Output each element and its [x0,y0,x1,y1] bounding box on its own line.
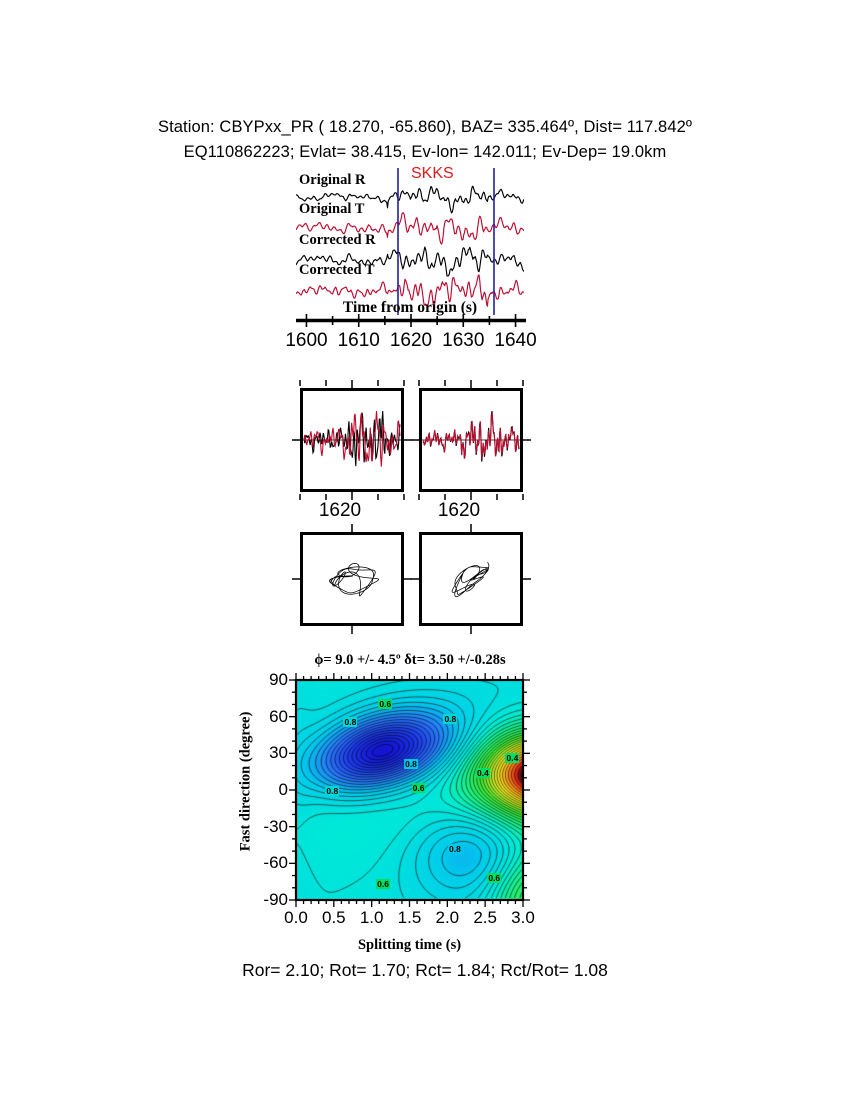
trace-label-corrected-r: Corrected R [299,232,376,249]
contour-plot-title: ϕ= 9.0 +/- 4.5º δt= 3.50 +/-0.28s [250,652,570,669]
time-axis-title: Time from origin (s) [296,299,524,317]
trace-label-corrected-t: Corrected T [299,262,375,279]
residual-summary-line: Ror= 2.10; Rot= 1.70; Rct= 1.84; Rct/Rot… [0,960,850,981]
contour-xtick-2.0: 2.0 [436,908,460,928]
station-info-line: Station: CBYPxx_PR ( 18.270, -65.860), B… [0,118,850,137]
time-tick-1640: 1640 [494,330,536,352]
time-tick-1600: 1600 [285,330,327,352]
contour-xlabel: Splitting time (s) [296,937,523,954]
zoom-panel-left [300,388,404,492]
contour-ytick-0: 0 [244,780,288,800]
event-info-line: EQ110862223; Evlat= 38.415, Ev-lon= 142.… [0,143,850,162]
zoom-panel-right [419,388,523,492]
time-tick-1630: 1630 [442,330,484,352]
skks-phase-label: SKKS [411,165,454,183]
zoom-panel-left-label: 1620 [319,500,361,522]
time-tick-1620: 1620 [390,330,432,352]
trace-label-original-t: Original T [299,201,364,218]
contour-axis-ticks [288,670,534,912]
contour-xtick-0.0: 0.0 [284,908,308,928]
contour-ytick-60: 60 [244,707,288,727]
contour-xtick-3.0: 3.0 [511,908,535,928]
time-tick-1610: 1610 [338,330,380,352]
zoom-panel-right-label: 1620 [438,500,480,522]
contour-ytick--90: -90 [244,890,288,910]
contour-xtick-0.5: 0.5 [322,908,346,928]
contour-xtick-1.5: 1.5 [398,908,422,928]
particle-motion-panel-left [300,532,404,626]
contour-ytick-30: 30 [244,743,288,763]
particle-motion-panel-right [419,532,523,626]
contour-ytick-90: 90 [244,670,288,690]
contour-xticklabels: 0.00.51.01.52.02.53.0 [296,908,523,932]
contour-ytick--30: -30 [244,817,288,837]
contour-xtick-1.0: 1.0 [360,908,384,928]
contour-yticklabels: 9060300-30-60-90 [240,680,288,900]
trace-label-original-r: Original R [299,172,365,189]
contour-xtick-2.5: 2.5 [473,908,497,928]
contour-ytick--60: -60 [244,853,288,873]
